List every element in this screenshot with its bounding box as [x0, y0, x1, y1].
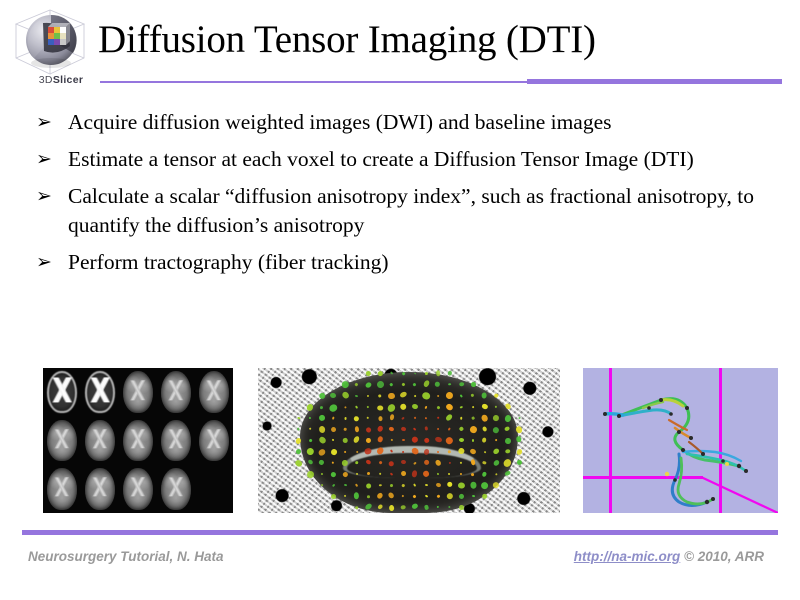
- tensor-glyph: [389, 426, 395, 431]
- tensor-glyph: [402, 495, 404, 497]
- tensor-glyph: [400, 426, 406, 431]
- tensor-glyph: [504, 402, 512, 410]
- tensor-glyph: [329, 448, 337, 456]
- tensor-glyph: [446, 413, 454, 421]
- tensor-glyph: [376, 425, 383, 433]
- slicer-logo: 3DSlicer: [10, 6, 92, 84]
- tensor-glyph: [377, 504, 383, 510]
- tensor-glyph: [344, 417, 347, 420]
- tensor-glyph: [376, 447, 385, 456]
- tensor-glyph: [471, 382, 476, 387]
- tensor-glyph: [413, 394, 416, 397]
- tensor-glyph: [495, 473, 498, 476]
- tensor-glyph: [413, 483, 417, 487]
- tensor-glyph: [411, 436, 419, 444]
- arrow-bullet-icon: ➢: [36, 248, 52, 277]
- tensor-glyph: [399, 391, 407, 399]
- list-item-text: Estimate a tensor at each voxel to creat…: [68, 147, 694, 171]
- tensor-glyph: [457, 447, 466, 456]
- tensor-glyph: [480, 414, 488, 423]
- tensor-glyph: [435, 370, 440, 376]
- tensor-glyph: [333, 461, 335, 463]
- slide-header: 3DSlicer Diffusion Tensor Imaging (DTI): [0, 0, 800, 92]
- tensor-glyph: [492, 459, 500, 467]
- tensor-glyph: [471, 472, 475, 476]
- tensor-glyph: [436, 382, 441, 387]
- tensor-glyph: [318, 426, 326, 434]
- dwi-slice: [195, 368, 233, 416]
- tensor-glyph: [376, 381, 384, 390]
- tensor-glyph: [481, 482, 488, 489]
- tensor-glyph: [483, 451, 485, 453]
- list-item-text: Acquire diffusion weighted images (DWI) …: [68, 110, 612, 134]
- tensor-glyph: [471, 416, 475, 420]
- tensor-glyph: [472, 439, 474, 442]
- dwi-slice: [157, 465, 195, 513]
- tensor-glyph: [413, 427, 417, 431]
- tensor-glyph: [493, 393, 499, 399]
- tensor-glyph: [378, 416, 383, 421]
- tensor-glyph: [330, 493, 337, 500]
- list-item-text: Calculate a scalar “diffusion anisotropy…: [68, 184, 754, 237]
- tensor-glyph: [367, 495, 370, 498]
- tensor-glyph: [390, 371, 394, 375]
- tensor-glyph: [354, 425, 359, 431]
- tensor-glyph: [445, 436, 454, 445]
- slicer-logo-caption: 3DSlicer: [20, 74, 102, 86]
- tensor-glyph: [413, 383, 417, 387]
- tensor-glyph: [460, 405, 463, 408]
- tensor-glyph: [436, 494, 440, 498]
- tensor-glyph: [414, 372, 417, 374]
- tensor-glyph: [388, 492, 396, 500]
- logo-caption-prefix: 3D: [39, 74, 53, 86]
- tensor-glyph: [412, 469, 418, 477]
- tensor-glyph: [505, 426, 511, 431]
- tensor-glyph: [516, 459, 523, 466]
- tensor-glyph: [448, 450, 452, 454]
- tensor-glyph: [318, 414, 326, 422]
- tensor-glyph: [344, 450, 347, 453]
- tensor-glyph: [390, 383, 394, 387]
- tensor-glyph: [518, 417, 521, 420]
- tensor-glyph: [390, 439, 393, 442]
- tensor-glyph: [378, 484, 381, 487]
- tensor-glyph: [330, 426, 337, 433]
- tensor-glyph: [481, 403, 488, 409]
- tensor-glyph: [330, 392, 337, 399]
- tensor-glyph: [423, 380, 431, 389]
- tensor-glyph: [447, 370, 453, 376]
- tensor-glyph: [458, 426, 464, 432]
- tensor-glyph: [400, 505, 406, 510]
- tensor-glyph: [482, 437, 487, 442]
- dwi-slice-grid: [43, 368, 233, 513]
- tensor-glyph: [425, 417, 428, 419]
- tensor-glyph: [353, 435, 361, 443]
- tensor-glyph: [411, 503, 418, 510]
- tensor-glyph: [400, 471, 406, 477]
- footer-copyright-block: http://na-mic.org © 2010, ARR: [574, 549, 764, 564]
- tensor-glyph: [340, 391, 349, 400]
- tensor-glyph: [364, 448, 373, 457]
- tensor-glyph: [471, 394, 474, 398]
- tensor-glyph: [365, 382, 373, 389]
- tensor-glyph: [402, 450, 405, 453]
- tensor-glyph: [468, 425, 477, 434]
- tensor-glyph: [504, 415, 511, 423]
- tensor-glyph: [368, 417, 370, 419]
- tensor-glyph: [495, 439, 498, 442]
- tensor-glyph: [448, 461, 451, 464]
- tensor-glyph: [355, 394, 358, 397]
- tensor-glyph: [424, 426, 428, 431]
- tensor-glyph: [458, 382, 464, 387]
- tensor-glyph: [295, 437, 302, 444]
- tensor-glyph: [411, 403, 418, 409]
- tensor-glyph: [355, 383, 359, 387]
- tensor-glyph: [344, 495, 347, 498]
- tensor-glyph: [365, 370, 372, 377]
- tensor-glyph: [493, 415, 500, 422]
- tensor-glyph: [458, 493, 465, 500]
- figure-dwi-montage: [43, 368, 233, 513]
- tensor-glyph: [413, 461, 417, 464]
- tensor-glyph: [344, 406, 347, 409]
- tensor-glyph: [379, 472, 381, 475]
- na-mic-link[interactable]: http://na-mic.org: [574, 549, 681, 564]
- list-item: ➢ Perform tractography (fiber tracking): [30, 248, 770, 277]
- slicer-logo-icon: [10, 6, 92, 84]
- tensor-glyph: [401, 417, 405, 420]
- list-item: ➢ Acquire diffusion weighted images (DWI…: [30, 108, 770, 137]
- dwi-slice-empty: [195, 465, 233, 513]
- tensor-glyph: [515, 426, 523, 435]
- dwi-slice: [119, 368, 157, 416]
- tensor-glyph: [482, 493, 488, 499]
- tensor-glyph: [390, 472, 393, 475]
- tensor-glyph: [317, 436, 326, 445]
- tensor-glyph: [366, 472, 370, 476]
- slide-canvas: 3DSlicer Diffusion Tensor Imaging (DTI) …: [0, 0, 800, 600]
- tensor-glyph: [448, 383, 451, 386]
- tensor-glyph: [437, 506, 439, 508]
- tensor-glyph: [354, 492, 359, 499]
- tensor-glyph: [377, 405, 383, 410]
- tensor-glyph: [355, 472, 358, 475]
- list-item: ➢ Estimate a tensor at each voxel to cre…: [30, 145, 770, 174]
- dwi-slice: [43, 465, 81, 513]
- tensor-glyph: [332, 483, 336, 487]
- tensor-glyph: [389, 505, 395, 512]
- tensor-glyph: [434, 436, 442, 443]
- tensor-glyph: [306, 447, 316, 456]
- tensor-glyph: [437, 417, 440, 419]
- footer-attribution: Neurosurgery Tutorial, N. Hata: [28, 549, 224, 564]
- tensor-glyph: [447, 482, 453, 487]
- dwi-slice: [81, 465, 119, 513]
- tensor-glyph: [328, 403, 338, 413]
- tensor-glyph: [365, 426, 372, 433]
- figure-row: [0, 368, 800, 513]
- tensor-glyph: [388, 392, 395, 399]
- dwi-slice: [119, 416, 157, 464]
- tensor-glyph: [355, 405, 358, 409]
- tensor-glyph: [355, 450, 358, 453]
- tensor-glyph: [422, 392, 432, 401]
- tensor-glyph: [492, 481, 500, 489]
- tensor-glyph: [410, 447, 419, 456]
- bullet-list: ➢ Acquire diffusion weighted images (DWI…: [30, 108, 770, 285]
- tensor-glyph: [400, 403, 407, 410]
- tensor-glyph: [401, 371, 405, 375]
- tensor-glyph: [446, 492, 454, 500]
- tensor-glyph: [460, 473, 462, 475]
- logo-caption-suffix: Slicer: [53, 74, 83, 86]
- tensor-glyph: [365, 437, 371, 443]
- tensor-glyph: [390, 449, 393, 453]
- tensor-glyph: [355, 461, 359, 464]
- tensor-glyph: [297, 428, 300, 432]
- tensor-glyph: [436, 405, 440, 409]
- arrow-bullet-icon: ➢: [36, 108, 52, 137]
- tensor-glyph: [460, 461, 463, 464]
- tract-fiber-bundle: [583, 368, 778, 513]
- tensor-glyph: [320, 406, 323, 409]
- tensor-glyph: [503, 458, 513, 468]
- dwi-slice: [119, 465, 157, 513]
- tensor-glyph: [332, 416, 335, 419]
- tensor-glyph: [321, 473, 324, 476]
- tensor-glyph: [482, 471, 488, 477]
- tensor-glyph: [401, 483, 405, 487]
- tensor-glyph: [306, 470, 314, 478]
- tensor-glyph: [376, 492, 384, 500]
- tensor-glyph: [413, 494, 417, 498]
- dwi-slice: [81, 368, 119, 416]
- footer-copyright-text: © 2010, ARR: [680, 549, 764, 564]
- tensor-glyph: [344, 484, 347, 486]
- tensor-glyph: [423, 437, 430, 444]
- arrow-bullet-icon: ➢: [36, 182, 52, 211]
- tensor-glyph: [460, 417, 462, 420]
- tensor-glyph: [389, 414, 394, 421]
- tensor-glyph: [413, 417, 416, 420]
- tensor-glyph: [505, 449, 511, 454]
- page-title: Diffusion Tensor Imaging (DTI): [98, 17, 596, 63]
- dwi-slice: [43, 368, 81, 416]
- tensor-glyph: [470, 481, 477, 488]
- tensor-glyph: [425, 494, 428, 497]
- tensor-glyph: [390, 483, 393, 487]
- list-item: ➢ Calculate a scalar “diffusion anisotro…: [30, 182, 770, 240]
- tensor-glyph: [517, 436, 523, 443]
- tensor-glyph: [318, 392, 327, 401]
- title-underline-thick: [527, 79, 782, 84]
- tensor-glyph: [355, 483, 358, 487]
- tensor-glyph: [378, 461, 382, 465]
- tensor-glyph: [317, 447, 326, 456]
- tensor-glyph: [448, 506, 451, 509]
- tensor-glyph: [445, 392, 454, 401]
- tensor-glyph: [459, 505, 464, 511]
- tensor-glyph: [377, 370, 383, 376]
- tensor-glyph: [437, 473, 440, 476]
- tensor-glyph: [469, 448, 477, 455]
- tensor-glyph: [355, 506, 359, 509]
- tensor-glyph: [423, 459, 431, 466]
- tensor-glyph: [402, 439, 405, 441]
- tensor-glyph: [422, 470, 430, 478]
- tensor-glyph: [330, 471, 336, 477]
- tensor-glyph: [458, 438, 464, 443]
- tensor-glyph: [457, 482, 465, 489]
- tensor-glyph: [482, 392, 487, 398]
- tensor-glyph: [367, 406, 369, 408]
- dwi-slice: [157, 368, 195, 416]
- list-item-text: Perform tractography (fiber tracking): [68, 250, 389, 274]
- title-underline-thin: [100, 81, 527, 83]
- tensor-glyph-layer: [258, 368, 560, 513]
- tensor-glyph: [448, 473, 451, 476]
- tensor-glyph: [445, 402, 454, 410]
- tensor-glyph: [401, 460, 406, 465]
- tensor-glyph: [434, 460, 441, 467]
- slide-footer: Neurosurgery Tutorial, N. Hata http://na…: [0, 548, 800, 578]
- tensor-glyph: [319, 459, 326, 465]
- tensor-glyph: [321, 484, 323, 486]
- dwi-slice: [81, 416, 119, 464]
- figure-tractography: [583, 368, 778, 513]
- tensor-glyph: [504, 470, 511, 476]
- tensor-glyph: [471, 406, 474, 409]
- tensor-glyph: [365, 459, 371, 465]
- tensor-glyph: [425, 484, 428, 486]
- tensor-glyph: [495, 406, 497, 408]
- tensor-glyph: [460, 394, 463, 398]
- tensor-glyph: [423, 448, 430, 455]
- tensor-glyph: [342, 381, 349, 388]
- tensor-glyph: [353, 415, 360, 422]
- figure-tensor-glyphs: [258, 368, 560, 513]
- tensor-glyph: [342, 471, 349, 478]
- tensor-glyph: [378, 394, 382, 398]
- tensor-glyph: [342, 460, 348, 466]
- tensor-glyph: [437, 450, 439, 453]
- tensor-glyph: [295, 448, 302, 455]
- tensor-glyph: [425, 372, 428, 375]
- tensor-glyph: [386, 402, 396, 412]
- tensor-glyph: [492, 447, 500, 455]
- tensor-glyph: [366, 482, 371, 488]
- tensor-glyph: [297, 417, 300, 420]
- tensor-glyph: [425, 406, 428, 409]
- tensor-glyph: [364, 502, 373, 510]
- tensor-glyph: [309, 428, 312, 431]
- tensor-glyph: [389, 461, 395, 466]
- tensor-glyph: [308, 438, 312, 443]
- arrow-bullet-icon: ➢: [36, 145, 52, 174]
- footer-divider: [22, 530, 778, 535]
- dwi-slice: [43, 416, 81, 464]
- tensor-glyph: [448, 427, 451, 430]
- tensor-glyph: [481, 426, 487, 432]
- tensor-glyph: [401, 383, 405, 387]
- tensor-glyph: [435, 482, 441, 487]
- tensor-glyph: [492, 425, 500, 433]
- tensor-glyph: [471, 495, 474, 498]
- tensor-glyph: [306, 403, 314, 411]
- tensor-glyph: [437, 428, 440, 431]
- tensor-glyph: [343, 438, 348, 443]
- tensor-glyph: [424, 504, 430, 510]
- tensor-glyph: [504, 437, 510, 444]
- tensor-glyph: [437, 395, 439, 397]
- tensor-glyph: [309, 417, 312, 419]
- tensor-glyph: [470, 459, 475, 465]
- tensor-glyph: [307, 459, 313, 465]
- dwi-slice: [195, 416, 233, 464]
- tensor-glyph: [294, 459, 303, 467]
- tensor-glyph: [367, 395, 369, 397]
- tensor-glyph: [482, 461, 486, 465]
- dwi-slice: [157, 416, 195, 464]
- tensor-glyph: [377, 436, 384, 444]
- tensor-glyph: [516, 448, 523, 455]
- tensor-glyph: [332, 439, 335, 442]
- tensor-glyph: [344, 427, 347, 430]
